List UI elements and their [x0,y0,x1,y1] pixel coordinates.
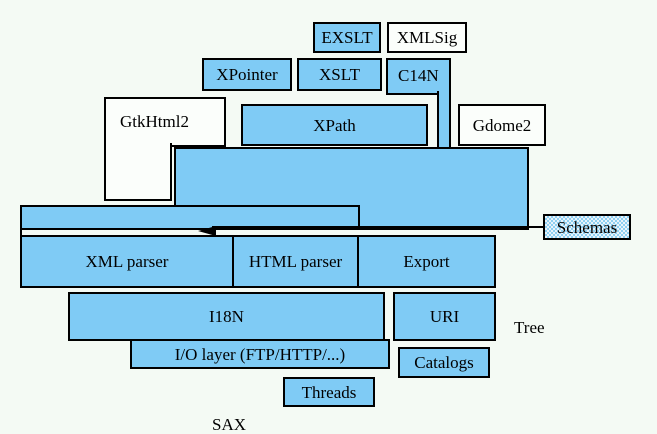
box-c14n-label: C14N [398,67,439,84]
box-html-parser-label: HTML parser [249,252,342,272]
box-i18n-label: I18N [209,308,244,325]
box-export-label: Export [403,252,449,272]
box-html-parser[interactable]: HTML parser [234,237,359,286]
box-gtkhtml2-body [104,143,172,201]
architecture-diagram: EXSLT XMLSig XPointer XSLT C14N GtkHtml2… [0,0,657,418]
box-export[interactable]: Export [359,237,494,286]
box-io-layer[interactable]: I/O layer (FTP/HTTP/...) [130,339,390,369]
box-io-layer-label: I/O layer (FTP/HTTP/...) [175,346,345,363]
box-xpointer-label: XPointer [216,66,277,83]
box-gdome2-label: Gdome2 [473,117,532,134]
box-catalogs[interactable]: Catalogs [398,347,490,378]
box-c14n-shoulder [386,91,439,95]
box-exslt[interactable]: EXSLT [313,22,381,53]
box-exslt-label: EXSLT [321,29,372,46]
box-xml-parser-label: XML parser [86,252,169,272]
box-uri-label: URI [430,308,459,325]
box-xmlsig[interactable]: XMLSig [387,22,467,53]
box-gtkhtml2-label: GtkHtml2 [120,113,189,130]
box-sax[interactable]: SAX [20,205,360,230]
box-schemas[interactable]: Schemas [543,214,631,240]
box-xslt-label: XSLT [319,66,360,83]
box-c14n-stem [437,91,451,150]
box-i18n[interactable]: I18N [68,292,385,341]
box-xslt[interactable]: XSLT [297,58,382,91]
box-threads-label: Threads [302,384,357,401]
box-tree-label: Tree [514,319,545,336]
box-xpath[interactable]: XPath [241,104,428,146]
box-xmlsig-label: XMLSig [397,29,457,46]
box-uri[interactable]: URI [393,292,496,341]
box-sax-label: SAX [212,416,246,433]
box-catalogs-label: Catalogs [414,354,474,371]
box-xpath-label: XPath [313,117,356,134]
box-xml-parser[interactable]: XML parser [22,237,234,286]
box-threads[interactable]: Threads [283,377,375,407]
box-gdome2[interactable]: Gdome2 [458,104,546,146]
row-parsers: XML parser HTML parser Export [20,235,496,288]
box-xpointer[interactable]: XPointer [202,58,292,91]
box-schemas-label: Schemas [557,219,617,236]
